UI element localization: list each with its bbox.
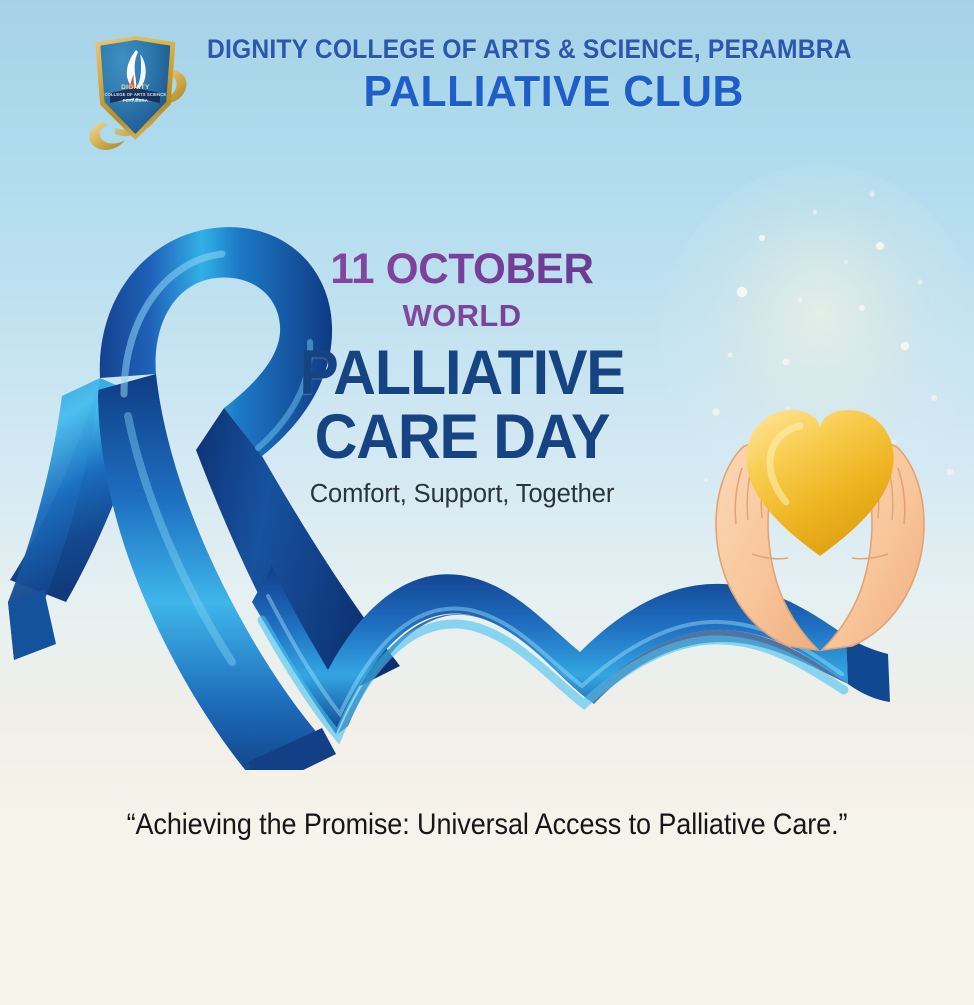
crest-word: DIGNITY	[100, 84, 170, 91]
crest-subtext: COLLEGE OF ARTS SCIENCE PERAMBRA	[98, 92, 172, 104]
club-name: PALLIATIVE CLUB	[218, 70, 890, 115]
artwork-svg	[0, 150, 974, 770]
artwork-stage	[0, 150, 974, 770]
college-logo: DIGNITY COLLEGE OF ARTS SCIENCE PERAMBRA	[81, 30, 193, 155]
header: DIGNITY COLLEGE OF ARTS SCIENCE PERAMBRA…	[0, 28, 974, 148]
header-text-block: DIGNITY COLLEGE OF ARTS & SCIENCE, PERAM…	[207, 28, 900, 115]
college-name: DIGNITY COLLEGE OF ARTS & SCIENCE, PERAM…	[207, 36, 852, 64]
hands-holding-heart-icon	[716, 410, 924, 650]
theme-quote: “Achieving the Promise: Universal Access…	[49, 808, 926, 842]
ribbon-wave-icon	[252, 566, 890, 736]
poster-canvas: DIGNITY COLLEGE OF ARTS SCIENCE PERAMBRA…	[0, 0, 974, 1005]
